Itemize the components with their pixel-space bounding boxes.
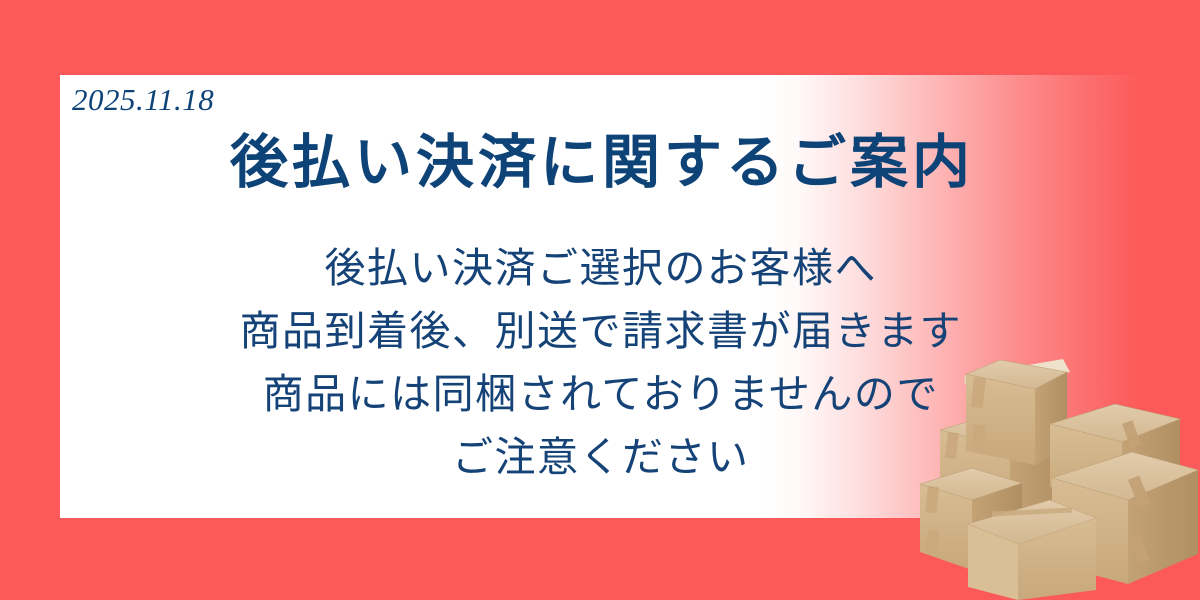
announcement-banner: 2025.11.18 後払い決済に関するご案内 後払い決済ご選択のお客様へ 商品… <box>0 0 1200 600</box>
body-line: 後払い決済ご選択のお客様へ <box>60 237 1140 300</box>
announcement-date: 2025.11.18 <box>72 84 214 115</box>
page-title: 後払い決済に関するご案内 <box>60 132 1140 195</box>
cardboard-boxes-illustration <box>900 352 1200 600</box>
